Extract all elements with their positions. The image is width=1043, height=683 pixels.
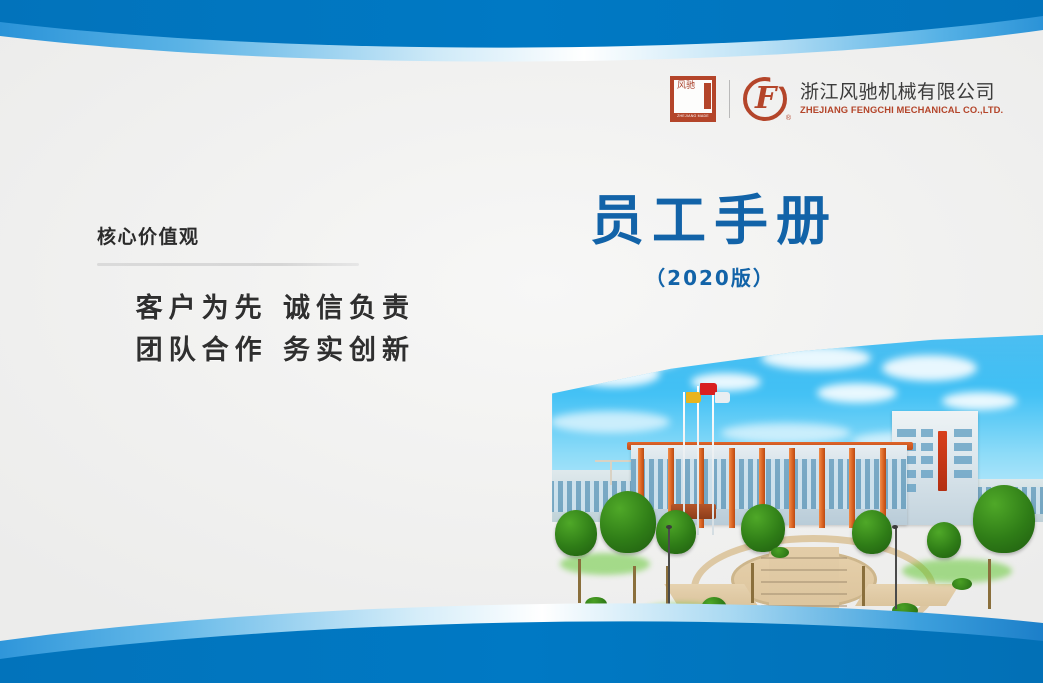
core-values-block: 核心价值观 客户为先 诚信负责 团队合作 务实创新	[97, 222, 417, 372]
page-subtitle: （2020版）	[560, 262, 860, 291]
cover-title-block: 员工手册 （2020版）	[560, 190, 860, 291]
core-values-list: 客户为先 诚信负责 团队合作 务实创新	[97, 288, 417, 372]
core-values-line: 团队合作 务实创新	[97, 330, 415, 372]
company-logo-block: 风驰 ZHEJIANG MADE F ® 浙江风驰机械有限公司 ZHEJIANG…	[670, 76, 999, 122]
company-name-en: ZHEJIANG FENGCHI MECHANICAL CO.,LTD.	[800, 104, 1003, 117]
seal-stamp-icon: 风驰 ZHEJIANG MADE	[670, 76, 716, 122]
core-values-divider	[97, 263, 359, 266]
photo-building-signboard	[938, 431, 947, 491]
seal-side-bar	[704, 83, 711, 109]
seal-caption: ZHEJIANG MADE	[674, 113, 712, 119]
company-name-block: 浙江风驰机械有限公司 ZHEJIANG FENGCHI MECHANICAL C…	[800, 81, 999, 117]
registered-trademark-icon: ®	[786, 115, 791, 122]
handbook-cover-page: 风驰 ZHEJIANG MADE F ® 浙江风驰机械有限公司 ZHEJIANG…	[0, 0, 1043, 683]
page-title: 员工手册	[560, 190, 860, 252]
seal-calligraphy: 风驰	[677, 82, 703, 112]
logo-divider	[729, 80, 730, 118]
core-values-line: 客户为先 诚信负责	[97, 288, 415, 330]
company-name-cn: 浙江风驰机械有限公司	[800, 81, 999, 104]
company-campus-photo	[540, 330, 1043, 640]
core-values-heading: 核心价值观	[97, 222, 417, 249]
fengchi-f-monogram-icon: F ®	[743, 77, 787, 121]
